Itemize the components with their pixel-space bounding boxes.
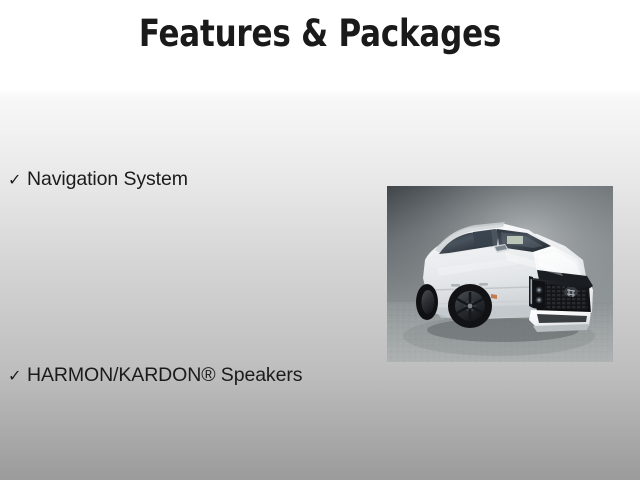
page-title: Features & Packages <box>22 12 617 56</box>
feature-label: Navigation System <box>27 167 188 191</box>
slide-header: Features & Packages <box>0 0 640 90</box>
feature-label: HARMON/KARDON® Speakers <box>27 363 302 387</box>
checkmark-icon: ✓ <box>8 168 27 192</box>
vehicle-photo <box>387 186 613 362</box>
list-item: ✓ HARMON/KARDON® Speakers <box>8 363 302 388</box>
slide: Features & Packages ✓ Navigation System … <box>0 0 640 480</box>
checkmark-icon: ✓ <box>8 364 27 388</box>
list-item: ✓ Navigation System <box>8 167 188 192</box>
